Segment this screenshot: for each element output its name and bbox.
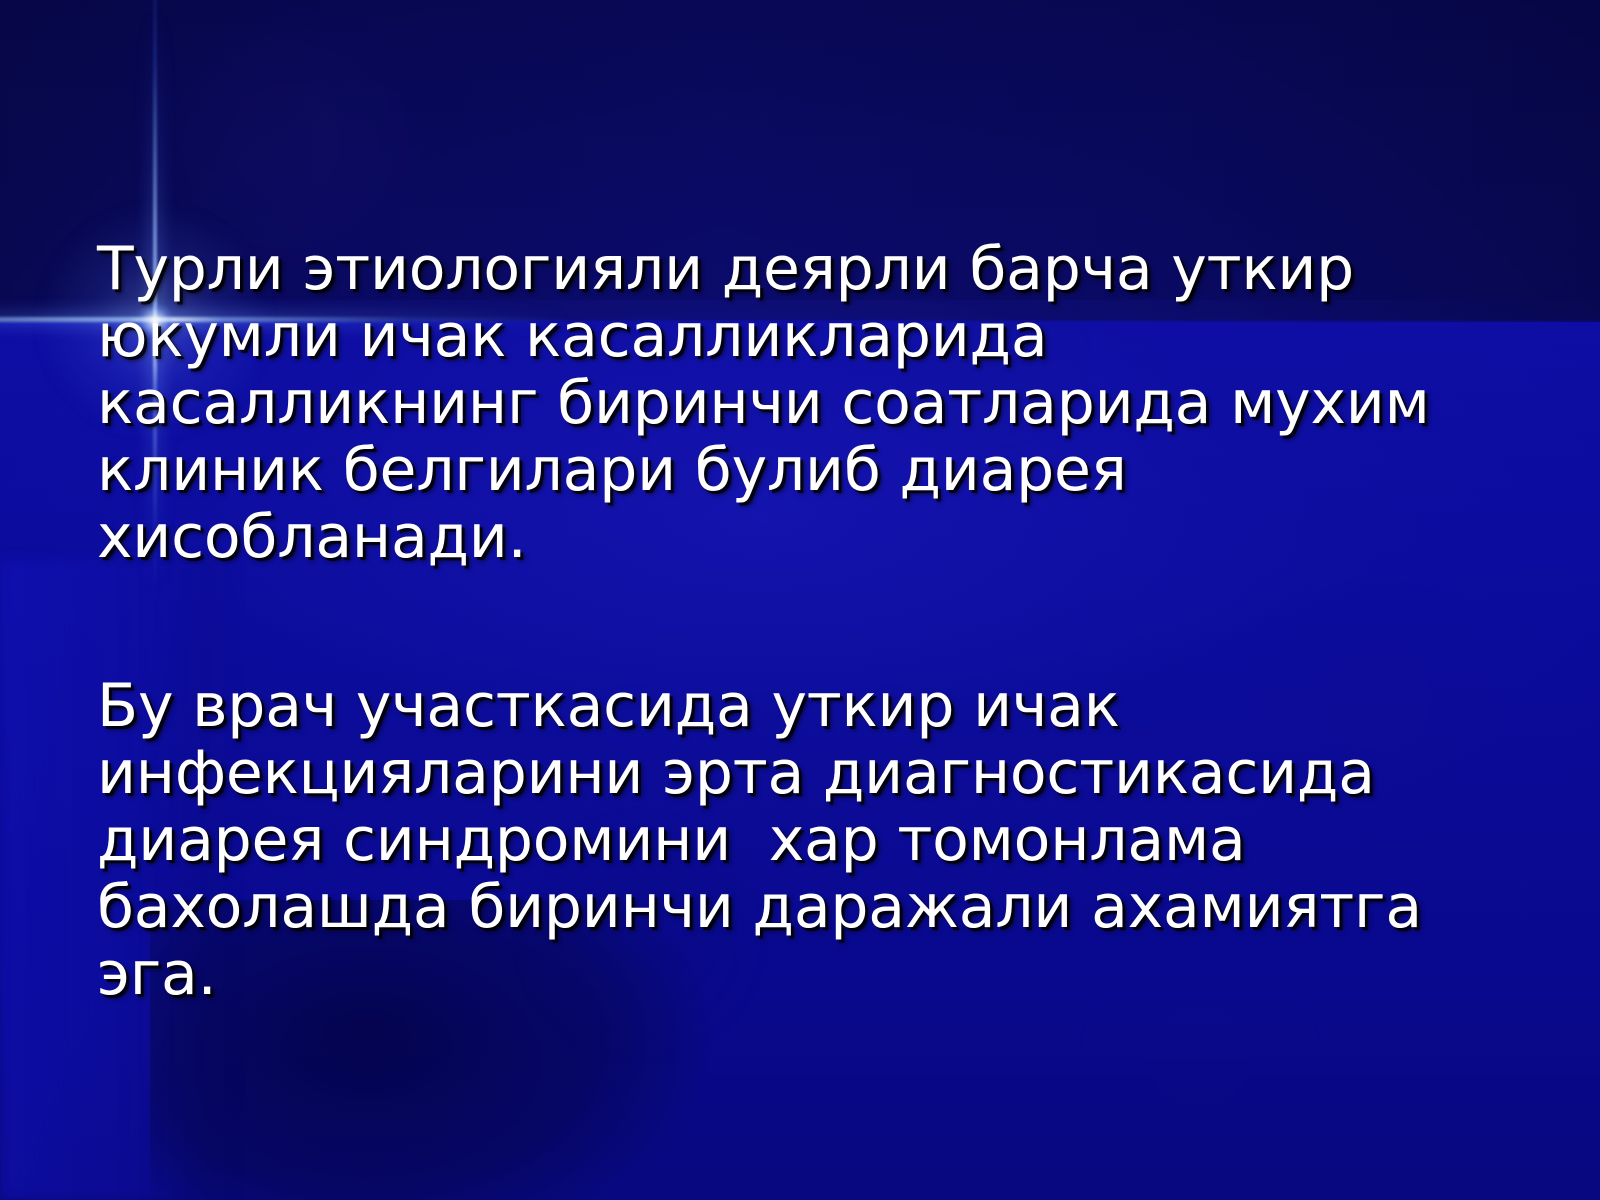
- body-paragraph-1: Турли этиологияли деярли барча уткир юку…: [97, 236, 1497, 571]
- presentation-slide: Турли этиологияли деярли барча уткир юку…: [0, 0, 1600, 1200]
- body-paragraph-2: Бу врач участкасида уткир ичак инфекциял…: [97, 673, 1497, 1008]
- slide-body-content: Турли этиологияли деярли барча уткир юку…: [97, 236, 1497, 1008]
